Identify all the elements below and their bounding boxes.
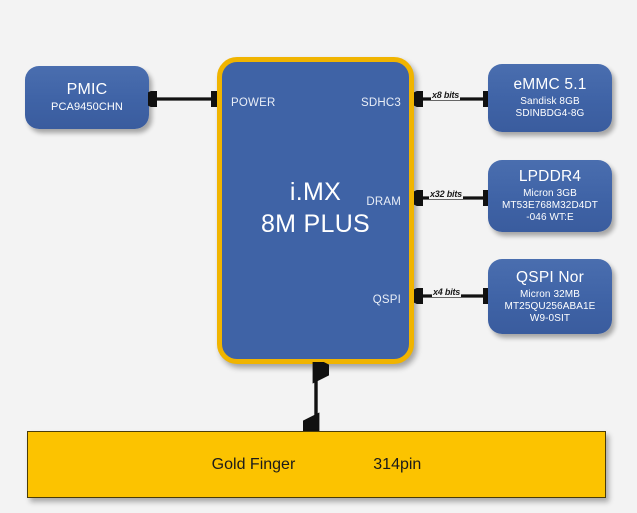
arrow-soc-to-goldfinger — [303, 362, 329, 434]
qspinor-vendor: Micron 32MB — [520, 289, 580, 301]
emmc-block[interactable]: eMMC 5.1 Sandisk 8GB SDINBDG4-8G — [488, 64, 612, 132]
lpddr4-title: LPDDR4 — [519, 168, 581, 186]
port-label-sdhc3: SDHC3 — [361, 97, 401, 109]
port-label-power: POWER — [231, 97, 275, 109]
soc-name-line1: i.MX — [290, 178, 341, 206]
gold-finger-pin-count: 314pin — [373, 456, 421, 474]
qspinor-title: QSPI Nor — [516, 269, 584, 287]
arrow-pmic-to-soc — [148, 91, 220, 107]
lpddr4-block[interactable]: LPDDR4 Micron 3GB MT53E768M32D4DT -046 W… — [488, 160, 612, 232]
qspi-nor-block[interactable]: QSPI Nor Micron 32MB MT25QU256ABA1E W9-0… — [488, 259, 612, 334]
port-label-qspi: QSPI — [373, 294, 401, 306]
bus-label-emmc: x8 bits — [431, 90, 460, 100]
pmic-part-number: PCA9450CHN — [51, 101, 123, 114]
soc-block-imx8mplus[interactable]: i.MX 8M PLUS POWER SDHC3 DRAM QSPI — [217, 57, 414, 364]
emmc-title: eMMC 5.1 — [513, 76, 586, 94]
emmc-part-number: SDINBDG4-8G — [516, 108, 585, 120]
qspinor-part-suffix: W9-0SIT — [530, 313, 570, 325]
gold-finger-bar[interactable]: Gold Finger 314pin — [27, 431, 606, 498]
pmic-block[interactable]: PMIC PCA9450CHN — [25, 66, 149, 129]
bus-label-qspinor: x4 bits — [432, 287, 461, 297]
port-label-dram: DRAM — [366, 196, 401, 208]
soc-name-line2: 8M PLUS — [222, 208, 409, 240]
block-diagram-canvas: PMIC PCA9450CHN i.MX 8M PLUS POWER SDHC3… — [0, 0, 637, 513]
soc-name: i.MX 8M PLUS — [222, 176, 409, 240]
lpddr4-part-suffix: -046 WT:E — [526, 212, 574, 224]
bus-label-lpddr4: x32 bits — [429, 189, 463, 199]
emmc-vendor: Sandisk 8GB — [520, 96, 579, 108]
gold-finger-label: Gold Finger — [212, 456, 296, 474]
pmic-title: PMIC — [67, 81, 108, 100]
lpddr4-vendor: Micron 3GB — [523, 188, 577, 200]
lpddr4-part-number: MT53E768M32D4DT — [502, 200, 598, 212]
qspinor-part-number: MT25QU256ABA1E — [505, 301, 596, 313]
